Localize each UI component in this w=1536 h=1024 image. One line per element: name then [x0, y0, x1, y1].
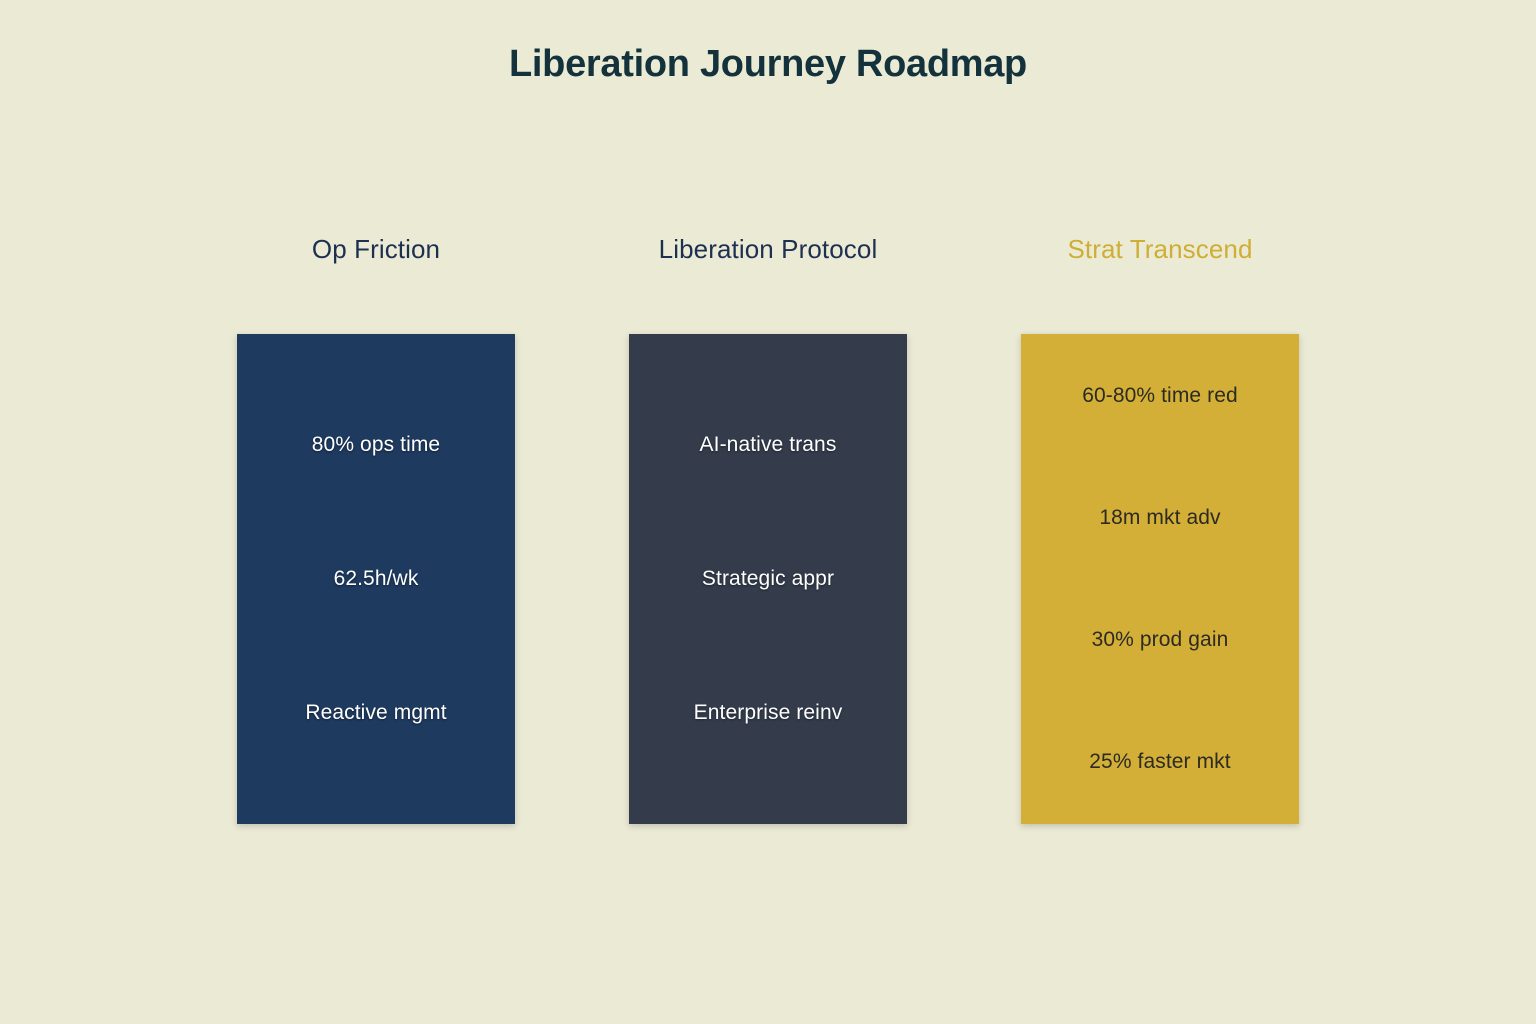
- column-box-strat-transcend[interactable]: 60-80% time red 18m mkt adv 30% prod gai…: [1021, 334, 1299, 824]
- roadmap-slide: Liberation Journey Roadmap Op Friction 8…: [0, 0, 1536, 1024]
- list-item: 25% faster mkt: [1021, 749, 1299, 775]
- column-items-strat-transcend: 60-80% time red 18m mkt adv 30% prod gai…: [1021, 383, 1299, 775]
- list-item: 60-80% time red: [1021, 383, 1299, 409]
- roadmap-column-op-friction: Op Friction 80% ops time 62.5h/wk Reacti…: [237, 232, 515, 824]
- column-header-strat-transcend: Strat Transcend: [1067, 232, 1252, 266]
- list-item: Enterprise reinv: [629, 700, 907, 726]
- list-item: 80% ops time: [237, 432, 515, 458]
- roadmap-columns: Op Friction 80% ops time 62.5h/wk Reacti…: [237, 232, 1299, 832]
- list-item: 62.5h/wk: [237, 566, 515, 592]
- page-title: Liberation Journey Roadmap: [0, 40, 1536, 88]
- column-box-liberation-protocol[interactable]: AI-native trans Strategic appr Enterpris…: [629, 334, 907, 824]
- list-item: AI-native trans: [629, 432, 907, 458]
- list-item: 18m mkt adv: [1021, 505, 1299, 531]
- list-item: Reactive mgmt: [237, 700, 515, 726]
- column-box-op-friction[interactable]: 80% ops time 62.5h/wk Reactive mgmt: [237, 334, 515, 824]
- roadmap-column-strat-transcend: Strat Transcend 60-80% time red 18m mkt …: [1021, 232, 1299, 824]
- column-items-op-friction: 80% ops time 62.5h/wk Reactive mgmt: [237, 432, 515, 726]
- list-item: Strategic appr: [629, 566, 907, 592]
- list-item: 30% prod gain: [1021, 627, 1299, 653]
- column-items-liberation-protocol: AI-native trans Strategic appr Enterpris…: [629, 432, 907, 726]
- column-header-liberation-protocol: Liberation Protocol: [659, 232, 878, 266]
- roadmap-column-liberation-protocol: Liberation Protocol AI-native trans Stra…: [629, 232, 907, 824]
- column-header-op-friction: Op Friction: [312, 232, 440, 266]
